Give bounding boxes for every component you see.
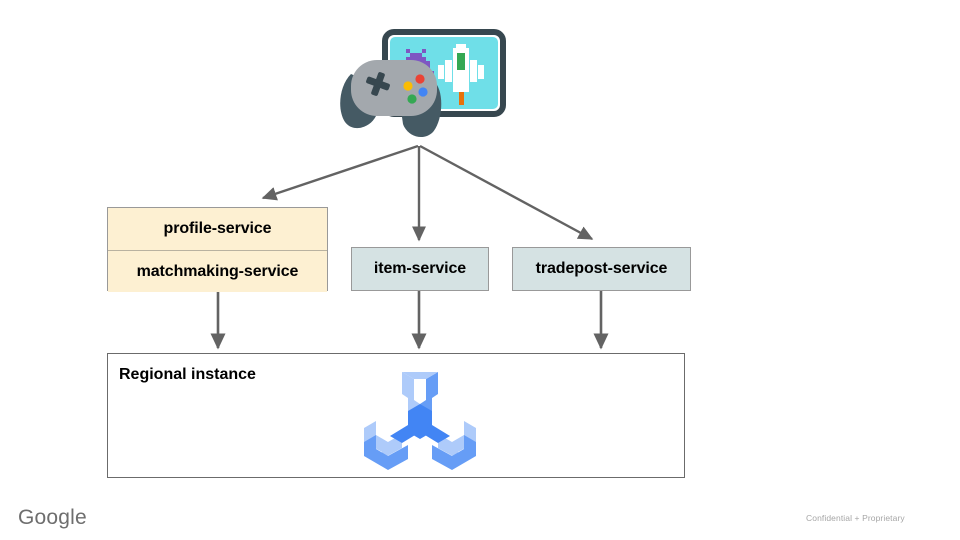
arrow-game-to-profile-service	[263, 146, 418, 198]
service-label-matchmaking-service: matchmaking-service	[137, 263, 299, 281]
arrow-game-to-tradepost-service	[420, 146, 592, 239]
button-red	[415, 74, 424, 83]
button-green	[407, 94, 416, 103]
slide-canvas: profile-service matchmaking-service item…	[0, 0, 960, 540]
button-yellow	[403, 81, 412, 90]
confidentiality-note: Confidential + Proprietary	[806, 513, 905, 523]
game-console-icon	[337, 28, 509, 146]
game-controller	[340, 60, 441, 137]
service-label-item-service: item-service	[374, 260, 466, 278]
cloud-spanner-icon	[362, 370, 478, 474]
service-group-profile-matchmaking: profile-service matchmaking-service	[107, 207, 328, 291]
regional-instance-title: Regional instance	[119, 366, 256, 384]
service-label-profile-service: profile-service	[164, 220, 272, 238]
service-box-matchmaking-service[interactable]: matchmaking-service	[108, 250, 327, 292]
service-label-tradepost-service: tradepost-service	[536, 260, 668, 278]
google-logo: Google	[18, 506, 87, 530]
service-box-item-service[interactable]: item-service	[351, 247, 489, 291]
service-box-profile-service[interactable]: profile-service	[108, 208, 327, 250]
regional-instance-container[interactable]: Regional instance	[107, 353, 685, 478]
service-box-tradepost-service[interactable]: tradepost-service	[512, 247, 691, 291]
button-blue	[418, 87, 427, 96]
